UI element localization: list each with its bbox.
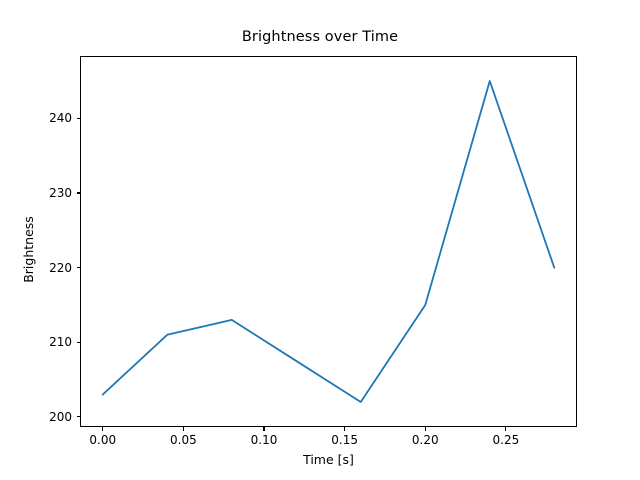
x-tick-label: 0.00 <box>89 433 116 447</box>
x-tick-mark <box>505 427 506 431</box>
x-axis-label: Time [s] <box>80 452 577 467</box>
x-tick-label: 0.25 <box>493 433 520 447</box>
x-tick-mark <box>344 427 345 431</box>
x-tick-label: 0.05 <box>170 433 197 447</box>
x-tick-mark <box>263 427 264 431</box>
x-tick-mark <box>425 427 426 431</box>
x-tick-label: 0.10 <box>251 433 278 447</box>
y-tick-mark <box>77 192 81 193</box>
chart-figure: Brightness over Time 200210220230240 0.0… <box>0 0 640 480</box>
data-line-brightness <box>103 81 555 402</box>
y-tick-mark <box>77 118 81 119</box>
y-tick-mark <box>77 267 81 268</box>
chart-title: Brightness over Time <box>0 29 640 45</box>
y-axis-label: Brightness <box>21 64 36 435</box>
x-tick-label: 0.15 <box>331 433 358 447</box>
y-tick-mark <box>77 342 81 343</box>
x-tick-mark <box>102 427 103 431</box>
x-tick-label: 0.20 <box>412 433 439 447</box>
plot-area <box>80 56 577 427</box>
x-tick-mark <box>183 427 184 431</box>
y-tick-mark <box>77 416 81 417</box>
